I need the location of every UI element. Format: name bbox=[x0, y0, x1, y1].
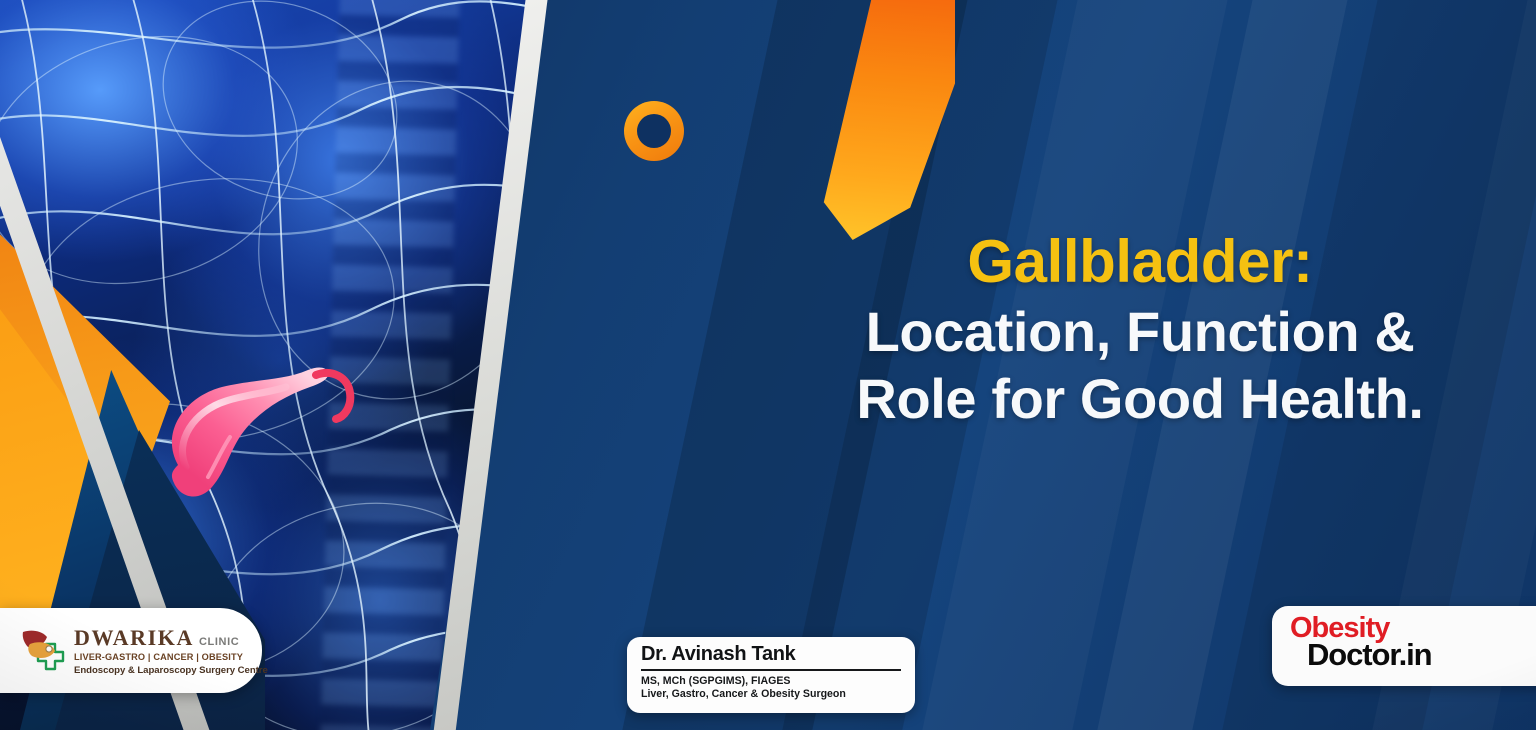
dwarika-liver-cross-icon bbox=[18, 626, 70, 676]
divider bbox=[641, 669, 901, 671]
orange-ring-icon bbox=[624, 101, 684, 161]
brand-word-doctor: Doctor.in bbox=[1307, 640, 1536, 669]
headline-title: Gallbladder: bbox=[760, 228, 1520, 295]
page-title: Gallbladder: Location, Function & Role f… bbox=[760, 228, 1520, 431]
gallbladder-banner: Gallbladder: Location, Function & Role f… bbox=[0, 0, 1536, 730]
clinic-suffix: CLINIC bbox=[199, 636, 239, 648]
clinic-name: DWARIKA bbox=[74, 627, 194, 649]
clinic-logo-text: DWARIKA CLINIC LIVER-GASTRO | CANCER | O… bbox=[74, 625, 248, 676]
clinic-tagline: Endoscopy & Laparoscopy Surgery Centre bbox=[74, 665, 248, 676]
headline-line-2: Location, Function & bbox=[760, 301, 1520, 364]
clinic-logo-card[interactable]: DWARIKA CLINIC LIVER-GASTRO | CANCER | O… bbox=[0, 608, 262, 693]
clinic-specialties: LIVER-GASTRO | CANCER | OBESITY bbox=[74, 652, 248, 662]
doctor-name: Dr. Avinash Tank bbox=[641, 644, 901, 666]
doctor-specialty: Liver, Gastro, Cancer & Obesity Surgeon bbox=[641, 688, 901, 702]
brand-logo-badge[interactable]: Obesity Doctor.in bbox=[1272, 606, 1536, 686]
doctor-info-card[interactable]: Dr. Avinash Tank MS, MCh (SGPGIMS), FIAG… bbox=[627, 637, 915, 713]
headline-line-3: Role for Good Health. bbox=[760, 368, 1520, 431]
doctor-qualifications: MS, MCh (SGPGIMS), FIAGES bbox=[641, 675, 901, 689]
